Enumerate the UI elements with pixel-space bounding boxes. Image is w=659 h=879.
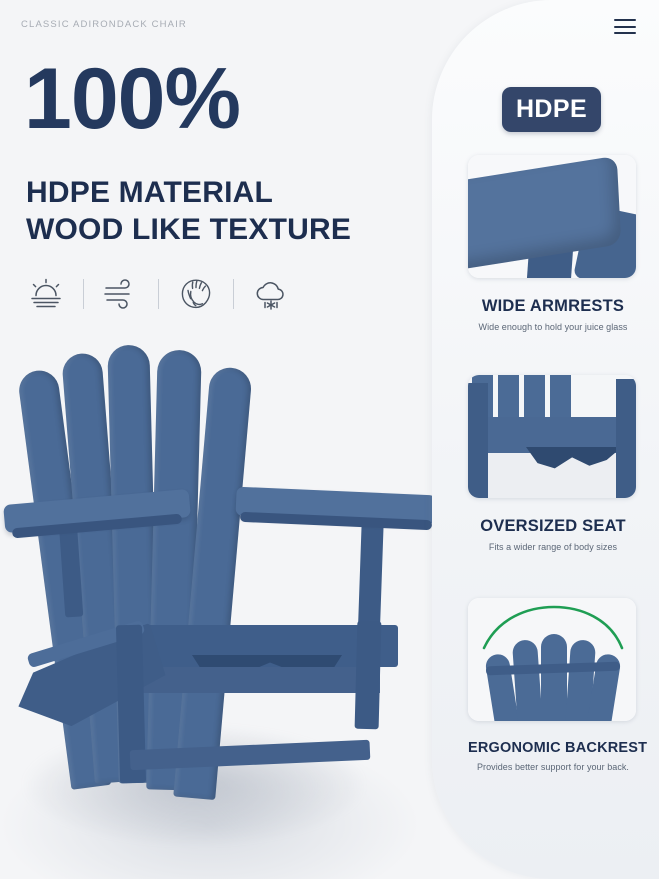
seat-post-left xyxy=(468,383,488,498)
product-hero-image xyxy=(0,325,440,879)
headline-line-2: WOOD LIKE TEXTURE xyxy=(26,211,351,248)
feature-subtitle: Fits a wider range of body sizes xyxy=(468,542,638,552)
armrest-support-right xyxy=(358,513,384,629)
hamburger-line xyxy=(614,19,636,21)
ergonomic-curve-arc xyxy=(480,604,626,652)
feature-thumbnail-seat xyxy=(468,375,636,498)
feature-subtitle: Provides better support for your back. xyxy=(468,762,638,772)
feature-title: OVERSIZED SEAT xyxy=(468,517,638,536)
chair-leg-right xyxy=(355,621,382,730)
feature-ergonomic-backrest: ERGONOMIC BACKREST Provides better suppo… xyxy=(468,598,638,772)
feature-thumbnail-armrest xyxy=(468,155,636,278)
wind-resistant-icon xyxy=(93,272,149,316)
hamburger-menu-icon[interactable] xyxy=(614,19,636,34)
seat-apron xyxy=(140,667,380,693)
product-infographic: CLASSIC ADIRONDACK CHAIR 100% HDPE MATER… xyxy=(0,0,659,879)
icon-divider xyxy=(83,279,84,309)
scratch-resistant-hand-icon xyxy=(168,272,224,316)
durability-icon-strip xyxy=(18,272,299,316)
feature-title: ERGONOMIC BACKREST xyxy=(468,740,638,756)
seat-post-right xyxy=(616,379,636,498)
adirondack-chair-illustration xyxy=(0,325,440,879)
hdpe-material-badge: HDPE xyxy=(502,87,601,132)
hamburger-line xyxy=(614,26,636,28)
feature-wide-armrests: WIDE ARMRESTS Wide enough to hold your j… xyxy=(468,155,638,332)
feature-sidebar: HDPE WIDE ARMRESTS Wide enough to hold y… xyxy=(432,0,659,879)
eyebrow-label: CLASSIC ADIRONDACK CHAIR xyxy=(21,19,187,30)
feature-oversized-seat: OVERSIZED SEAT Fits a wider range of bod… xyxy=(468,375,638,552)
left-content-column: CLASSIC ADIRONDACK CHAIR 100% HDPE MATER… xyxy=(0,0,440,879)
headline-line-1: HDPE MATERIAL xyxy=(26,176,273,209)
headline-subtext: HDPE MATERIAL WOOD LIKE TEXTURE xyxy=(26,174,351,248)
icon-divider xyxy=(158,279,159,309)
feature-thumbnail-backrest xyxy=(468,598,636,721)
hamburger-line xyxy=(614,32,636,34)
headline-percent: 100% xyxy=(24,56,240,142)
icon-divider xyxy=(233,279,234,309)
sun-fade-resistant-icon xyxy=(18,272,74,316)
feature-title: WIDE ARMRESTS xyxy=(468,297,638,316)
snow-cloud-weather-icon xyxy=(243,272,299,316)
feature-subtitle: Wide enough to hold your juice glass xyxy=(468,322,638,332)
